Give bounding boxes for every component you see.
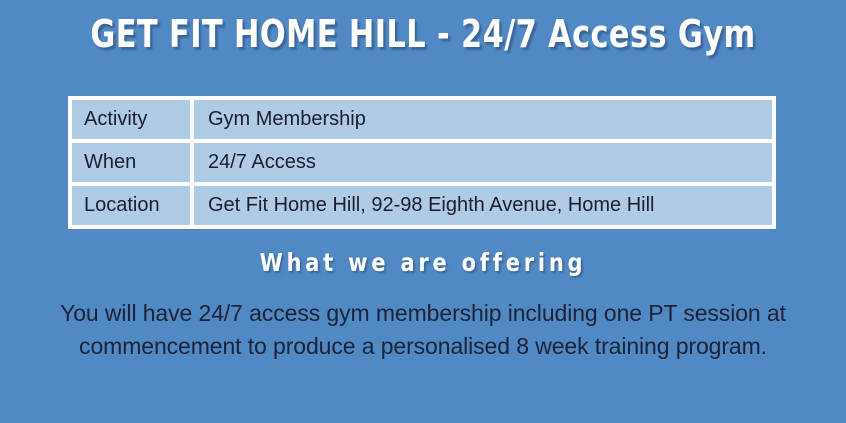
activity-details-table: Activity Gym Membership When 24/7 Access…	[68, 96, 776, 229]
promo-poster: GET FIT HOME HILL - 24/7 Access Gym Acti…	[0, 0, 846, 423]
table-row-value: Gym Membership	[192, 98, 774, 141]
offering-body-text: You will have 24/7 access gym membership…	[60, 297, 786, 363]
table-row-value: 24/7 Access	[192, 141, 774, 184]
table-row-label: When	[70, 141, 192, 184]
page-title: GET FIT HOME HILL - 24/7 Access Gym	[85, 11, 762, 57]
table-row-label: Location	[70, 184, 192, 227]
table-row: When 24/7 Access	[70, 141, 774, 184]
table-row-label: Activity	[70, 98, 192, 141]
table-row: Location Get Fit Home Hill, 92-98 Eighth…	[70, 184, 774, 227]
table-row: Activity Gym Membership	[70, 98, 774, 141]
table-row-value: Get Fit Home Hill, 92-98 Eighth Avenue, …	[192, 184, 774, 227]
offering-heading: What we are offering	[68, 248, 779, 278]
